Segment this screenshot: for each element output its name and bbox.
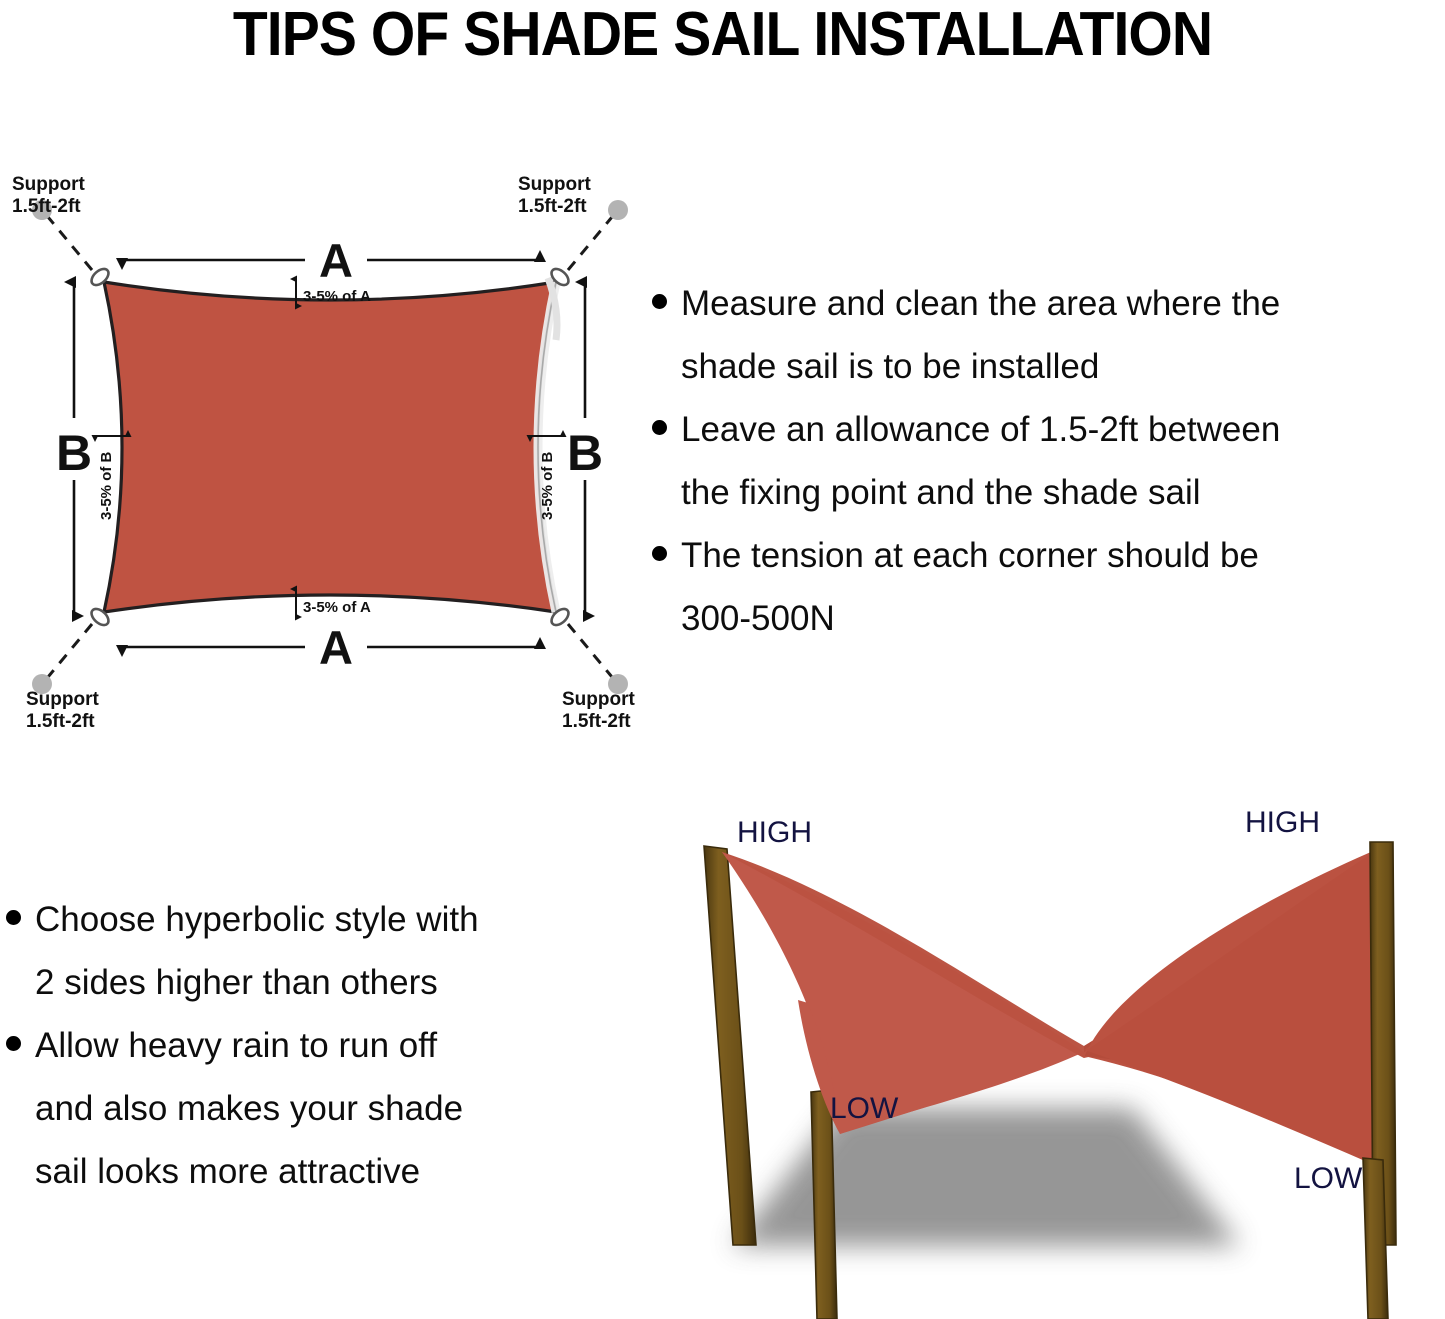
pole-low-right — [1363, 1158, 1388, 1319]
support-label-top-right: Support 1.5ft-2ft — [518, 174, 591, 217]
bullet-icon — [652, 294, 667, 309]
curve-note-a-bottom-label: 3-5% of A — [303, 599, 371, 616]
list-item: Choose hyperbolic style with 2 sides hig… — [6, 888, 636, 1014]
support-label-line1: Support — [12, 174, 85, 195]
list-item-text: Choose hyperbolic style with 2 sides hig… — [35, 888, 636, 1014]
support-label-line1: Support — [562, 689, 635, 710]
dimension-b-right-label: B — [567, 425, 603, 481]
dimension-b-right: B — [557, 282, 613, 616]
infographic-page: TIPS OF SHADE SAIL INSTALLATION — [0, 0, 1445, 1319]
support-label-line1: Support — [26, 689, 99, 710]
tips-list-right: Measure and clean the area where the sha… — [652, 272, 1445, 650]
dimension-b-left: B — [46, 282, 102, 616]
label-low-right: LOW — [1294, 1162, 1363, 1195]
bullet-icon — [6, 910, 21, 925]
bullet-icon — [652, 546, 667, 561]
dimension-a-bottom-label: A — [319, 621, 353, 674]
support-label-line2: 1.5ft-2ft — [518, 196, 587, 217]
support-label-bottom-left: Support 1.5ft-2ft — [26, 689, 99, 730]
list-item-text: Allow heavy rain to run off and also mak… — [35, 1014, 636, 1203]
list-item: Allow heavy rain to run off and also mak… — [6, 1014, 636, 1203]
curve-note-a-top-label: 3-5% of A — [303, 288, 371, 305]
curve-note-b-right-label: 3-5% of B — [539, 451, 556, 520]
support-label-line2: 1.5ft-2ft — [12, 196, 81, 217]
label-low-left: LOW — [830, 1092, 899, 1125]
support-label-line2: 1.5ft-2ft — [26, 711, 95, 730]
dimension-a-top-label: A — [319, 234, 353, 287]
pole-high-left — [704, 846, 756, 1245]
support-label-top-left: Support 1.5ft-2ft — [12, 174, 85, 217]
label-high-left: HIGH — [737, 816, 812, 849]
support-label-line1: Support — [518, 174, 591, 195]
dimension-a-bottom: A — [122, 619, 540, 674]
tips-list-left: Choose hyperbolic style with 2 sides hig… — [6, 888, 636, 1203]
ground-shadow — [732, 1108, 1240, 1246]
list-item: The tension at each corner should be 300… — [652, 524, 1445, 650]
bullet-icon — [652, 420, 667, 435]
list-item: Measure and clean the area where the sha… — [652, 272, 1445, 398]
sail-shape — [104, 278, 557, 612]
dimension-a-top: A — [122, 232, 540, 287]
list-item-text: The tension at each corner should be 300… — [681, 524, 1445, 650]
support-label-line2: 1.5ft-2ft — [562, 711, 631, 730]
label-high-right: HIGH — [1245, 806, 1320, 839]
curve-note-b-left-label: 3-5% of B — [98, 451, 115, 520]
list-item-text: Leave an allowance of 1.5-2ft between th… — [681, 398, 1445, 524]
list-item: Leave an allowance of 1.5-2ft between th… — [652, 398, 1445, 524]
bullet-icon — [6, 1036, 21, 1051]
dimension-b-left-label: B — [56, 425, 92, 481]
support-label-bottom-right: Support 1.5ft-2ft — [562, 689, 635, 730]
page-title: TIPS OF SHADE SAIL INSTALLATION — [58, 2, 1387, 68]
shade-sail-dimension-diagram: Support 1.5ft-2ft Support 1.5ft-2ft Supp… — [0, 160, 660, 730]
hyperbolic-shade-sail-illustration: HIGH HIGH LOW LOW — [680, 790, 1445, 1319]
list-item-text: Measure and clean the area where the sha… — [681, 272, 1445, 398]
